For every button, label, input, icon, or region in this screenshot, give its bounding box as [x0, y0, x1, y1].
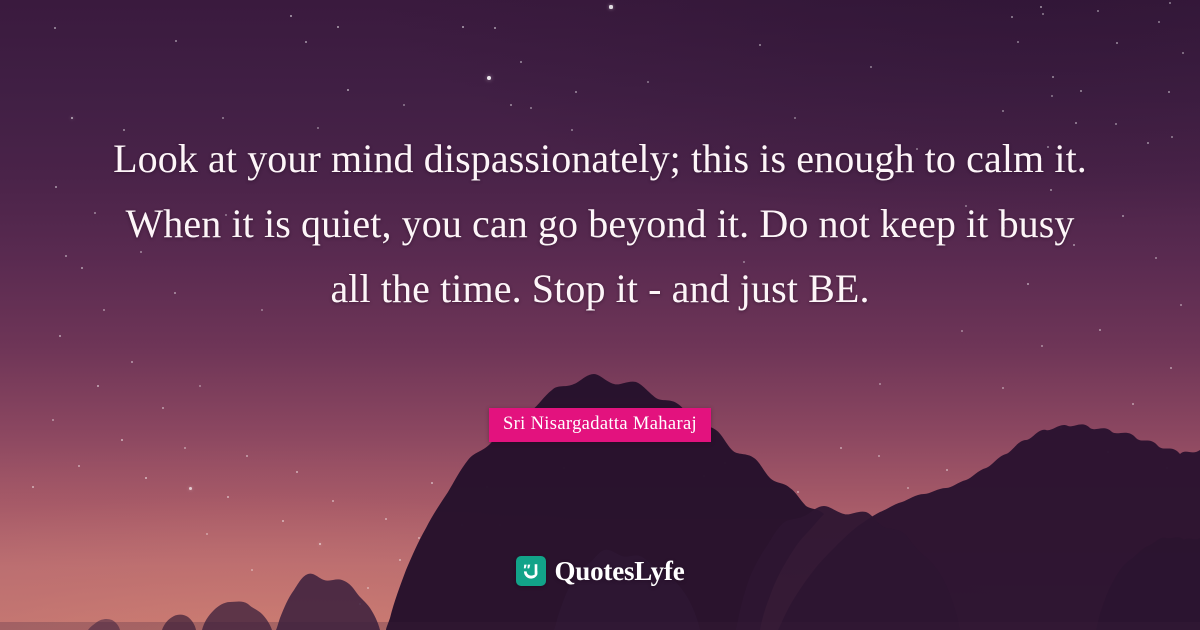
- star-dot: [510, 104, 512, 106]
- star-dot: [54, 27, 56, 29]
- star-dot: [59, 335, 61, 337]
- star-dot: [1170, 367, 1172, 369]
- star-dot: [1169, 2, 1171, 4]
- star-dot: [131, 361, 133, 363]
- star-dot: [1011, 16, 1013, 18]
- star-dot: [1116, 42, 1118, 44]
- star-dot: [575, 91, 577, 93]
- star-dot: [1097, 10, 1099, 12]
- star-dot: [1040, 6, 1042, 8]
- quote-card: Look at your mind dispassionately; this …: [0, 0, 1200, 630]
- star-dot: [1017, 41, 1019, 43]
- author-name-badge[interactable]: Sri Nisargadatta Maharaj: [489, 408, 711, 442]
- quote-smiley-icon: [516, 556, 546, 586]
- brand-logo[interactable]: QuotesLyfe: [0, 556, 1200, 586]
- star-dot: [305, 41, 307, 43]
- star-dot: [647, 81, 649, 83]
- star-dot: [403, 104, 405, 106]
- star-dot: [1080, 90, 1082, 92]
- star-dot: [1115, 123, 1117, 125]
- star-dot: [347, 89, 349, 91]
- star-dot: [1168, 91, 1170, 93]
- star-dot: [1099, 329, 1101, 331]
- star-dot: [1052, 76, 1054, 78]
- star-dot: [71, 117, 74, 120]
- star-dot: [520, 61, 522, 63]
- star-dot: [337, 26, 339, 28]
- star-dot: [1158, 21, 1160, 23]
- star-dot: [462, 26, 464, 28]
- quote-container: Look at your mind dispassionately; this …: [0, 126, 1200, 321]
- star-dot: [870, 66, 872, 68]
- star-dot: [1051, 95, 1053, 97]
- star-dot: [1041, 345, 1043, 347]
- star-dot: [609, 5, 612, 8]
- star-dot: [494, 27, 496, 29]
- star-dot: [175, 40, 177, 42]
- star-dot: [1182, 52, 1184, 54]
- star-dot: [222, 117, 224, 119]
- author-container: Sri Nisargadatta Maharaj: [0, 408, 1200, 442]
- star-dot: [961, 330, 963, 332]
- star-dot: [794, 117, 796, 119]
- star-dot: [1002, 110, 1004, 112]
- brand-name: QuotesLyfe: [555, 558, 685, 585]
- star-dot: [290, 15, 293, 18]
- star-dot: [1075, 122, 1077, 124]
- star-dot: [487, 76, 491, 80]
- star-dot: [1042, 13, 1044, 15]
- star-dot: [759, 44, 761, 46]
- quote-text: Look at your mind dispassionately; this …: [0, 126, 1200, 321]
- star-dot: [530, 107, 532, 109]
